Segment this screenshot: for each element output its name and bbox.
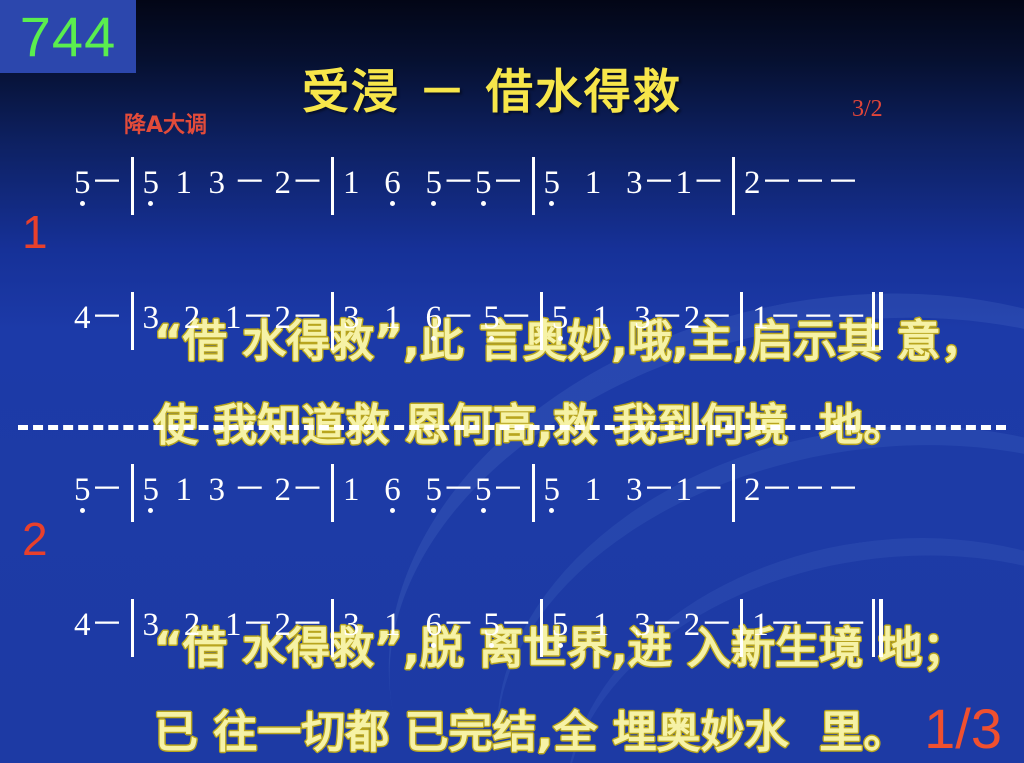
note: 1	[560, 472, 626, 509]
note: 1	[676, 165, 693, 202]
verse-2-line-2: 4－3 2 1－2－3 1 6－ 5－5 1 3－2－1－－－ 已 往一切都 已…	[0, 597, 1024, 763]
note: 3	[209, 165, 226, 202]
note: 1	[159, 165, 209, 202]
note-low-octave: 5	[544, 165, 561, 202]
note: 2	[744, 165, 761, 202]
notation-row: 5－5 1 3 － 2－1 6 5－5－5 1 3－1－2－－－	[0, 462, 1024, 510]
note: 1	[343, 472, 360, 509]
note: －	[692, 462, 725, 510]
hymn-slide: 744 降A大调 受浸 － 借水得救 3/2 5－5 1 3 － 2－1 6 5…	[0, 0, 1024, 763]
note: －	[91, 290, 124, 338]
note: 2	[159, 300, 225, 337]
note-low-octave: 6	[426, 300, 443, 337]
note: －	[291, 155, 324, 203]
note-low-octave: 5	[552, 300, 569, 337]
note: 1	[159, 472, 209, 509]
note: －	[500, 290, 533, 338]
note: －	[692, 155, 725, 203]
note-low-octave: 5	[143, 472, 160, 509]
notation-row: 5－5 1 3 － 2－1 6 5－5－5 1 3－1－2－－－	[0, 155, 1024, 203]
note: 3	[143, 607, 160, 644]
note: －	[91, 597, 124, 645]
note-low-octave: 5	[483, 300, 500, 337]
lyric-text: 已 往一切都 已完结,全 埋奥妙水 里。	[154, 707, 907, 758]
note-low-octave: 6	[384, 165, 401, 202]
note: －	[700, 597, 733, 645]
verse-number: 2	[22, 512, 48, 566]
note: 3	[143, 300, 160, 337]
note: －	[442, 290, 483, 338]
note: －	[651, 290, 684, 338]
note: －	[291, 462, 324, 510]
note-low-octave: 5	[74, 472, 91, 509]
note	[360, 165, 385, 202]
note: －	[651, 597, 684, 645]
note-low-octave: 5	[426, 472, 443, 509]
note: 3	[626, 165, 643, 202]
note: －	[242, 597, 275, 645]
note	[360, 472, 385, 509]
note-low-octave: 5	[74, 165, 91, 202]
note: －	[643, 462, 676, 510]
note-low-octave: 5	[483, 607, 500, 644]
note: －－－	[761, 462, 860, 510]
note: 1	[360, 607, 426, 644]
note-low-octave: 5	[475, 165, 492, 202]
note: 1	[752, 607, 769, 644]
note: 3	[634, 607, 651, 644]
verse-separator	[18, 425, 1006, 430]
note: －	[442, 155, 475, 203]
note-low-octave: 5	[475, 472, 492, 509]
note-low-octave: 5	[426, 165, 443, 202]
note: 1	[752, 300, 769, 337]
note: －	[225, 155, 275, 203]
note: －	[291, 290, 324, 338]
note: 2	[159, 607, 225, 644]
note: 2	[684, 607, 701, 644]
note: 3	[343, 300, 360, 337]
note: 4	[74, 300, 91, 337]
note: 1	[225, 607, 242, 644]
note: －	[492, 462, 525, 510]
time-signature: 3/2	[852, 96, 883, 123]
note: －	[225, 462, 275, 510]
note: 2	[744, 472, 761, 509]
notation-row: 4－3 2 1－2－3 1 6－ 5－5 1 3－2－1－－－	[0, 290, 1024, 338]
note: 2	[684, 300, 701, 337]
note: 2	[275, 165, 292, 202]
note: －	[91, 155, 124, 203]
note: 3	[209, 472, 226, 509]
note: －－－	[769, 290, 868, 338]
note: 1	[568, 607, 634, 644]
note-low-octave: 6	[426, 607, 443, 644]
note: 1	[360, 300, 426, 337]
note: 1	[568, 300, 634, 337]
notation-row: 4－3 2 1－2－3 1 6－ 5－5 1 3－2－1－－－	[0, 597, 1024, 645]
note: 2	[275, 472, 292, 509]
note: 1	[560, 165, 626, 202]
page-indicator: 1/3	[924, 701, 1002, 757]
note: 3	[626, 472, 643, 509]
note-low-octave: 5	[552, 607, 569, 644]
note: －	[291, 597, 324, 645]
note: －	[643, 155, 676, 203]
note: 3	[634, 300, 651, 337]
note	[401, 165, 426, 202]
note: 4	[74, 607, 91, 644]
note: 2	[275, 607, 292, 644]
note: －－－	[761, 155, 860, 203]
note: －	[500, 597, 533, 645]
lyric-row: 已 往一切都 已完结,全 埋奥妙水 里。	[0, 645, 1024, 763]
note: －	[91, 462, 124, 510]
note: －	[442, 597, 483, 645]
note: －	[700, 290, 733, 338]
note: －	[242, 290, 275, 338]
note: 1	[343, 165, 360, 202]
note	[401, 472, 426, 509]
note: －	[492, 155, 525, 203]
verse-number: 1	[22, 205, 48, 259]
note-low-octave: 6	[384, 472, 401, 509]
note: 1	[225, 300, 242, 337]
note: 3	[343, 607, 360, 644]
note: 2	[275, 300, 292, 337]
note: －	[442, 462, 475, 510]
note-low-octave: 5	[544, 472, 561, 509]
note-low-octave: 5	[143, 165, 160, 202]
note: 1	[676, 472, 693, 509]
note: －－－	[769, 597, 868, 645]
